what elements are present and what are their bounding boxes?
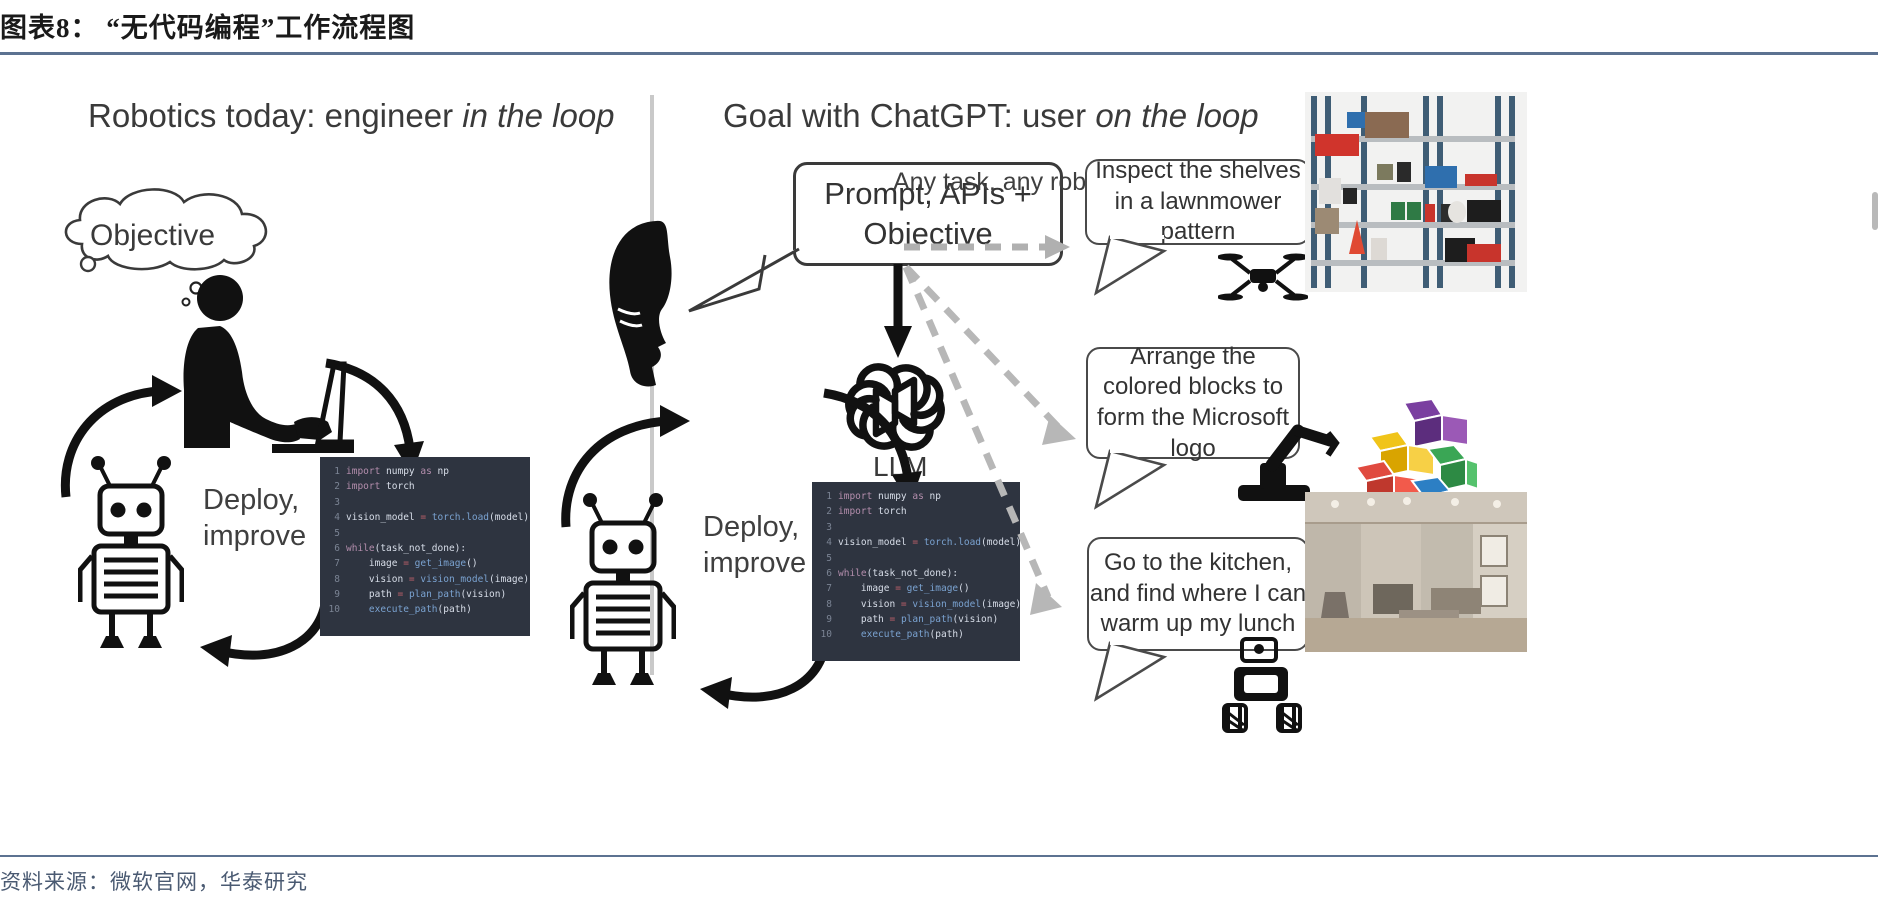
kitchen-interior-image [1305, 492, 1527, 652]
right-heading-plain: Goal with ChatGPT: user [723, 97, 1095, 134]
left-heading-plain: Robotics today: engineer [88, 97, 462, 134]
task-bubble-2-tail [1090, 449, 1200, 519]
footer-divider-rule [0, 855, 1878, 857]
warehouse-shelves-image [1305, 92, 1527, 292]
dashed-arrow-fan [880, 207, 1100, 657]
title-divider-rule [0, 52, 1878, 55]
task-bubble-3-tail [1090, 641, 1200, 711]
source-note: 资料来源：微软官网，华泰研究 [0, 866, 308, 896]
arrow-objective-to-engineer [56, 347, 216, 517]
scrollbar-thumb[interactable] [1872, 192, 1878, 230]
page-title: 图表8： “无代码编程”工作流程图 [0, 6, 1878, 50]
robot-icon [570, 489, 676, 711]
any-task-any-robot-label: Any task, any robot [893, 167, 1107, 198]
left-deploy-line1: Deploy, improve [203, 482, 306, 555]
right-deploy-line1: Deploy, improve [703, 509, 806, 582]
task-bubble-3-text: Go to the kitchen, and find where I can … [1089, 548, 1307, 640]
right-panel-heading: Goal with ChatGPT: user on the loop [723, 97, 1259, 135]
objective-cloud-label: Objective [90, 219, 215, 253]
drone-icon [1218, 247, 1308, 305]
left-deploy-improve-label: Deploy, improve [203, 482, 306, 555]
task-bubble-1-tail [1090, 235, 1200, 305]
task-bubble-inspect-shelves: Inspect the shelves in a lawnmower patte… [1085, 159, 1311, 245]
left-code-block: 1import numpy as np2import torch34vision… [320, 457, 530, 636]
prompt-box-tail [673, 245, 803, 331]
right-heading-italic: on the loop [1095, 97, 1258, 134]
mobile-robot-icon [1216, 637, 1308, 735]
task-bubble-kitchen-lunch: Go to the kitchen, and find where I can … [1087, 537, 1309, 651]
arrow-deploy-feedback [190, 587, 340, 677]
figure-canvas: Robotics today: engineer in the loop Goa… [0, 57, 1878, 852]
right-deploy-improve-label: Deploy, improve [703, 509, 806, 582]
left-panel-heading: Robotics today: engineer in the loop [88, 97, 615, 135]
left-heading-italic: in the loop [462, 97, 614, 134]
